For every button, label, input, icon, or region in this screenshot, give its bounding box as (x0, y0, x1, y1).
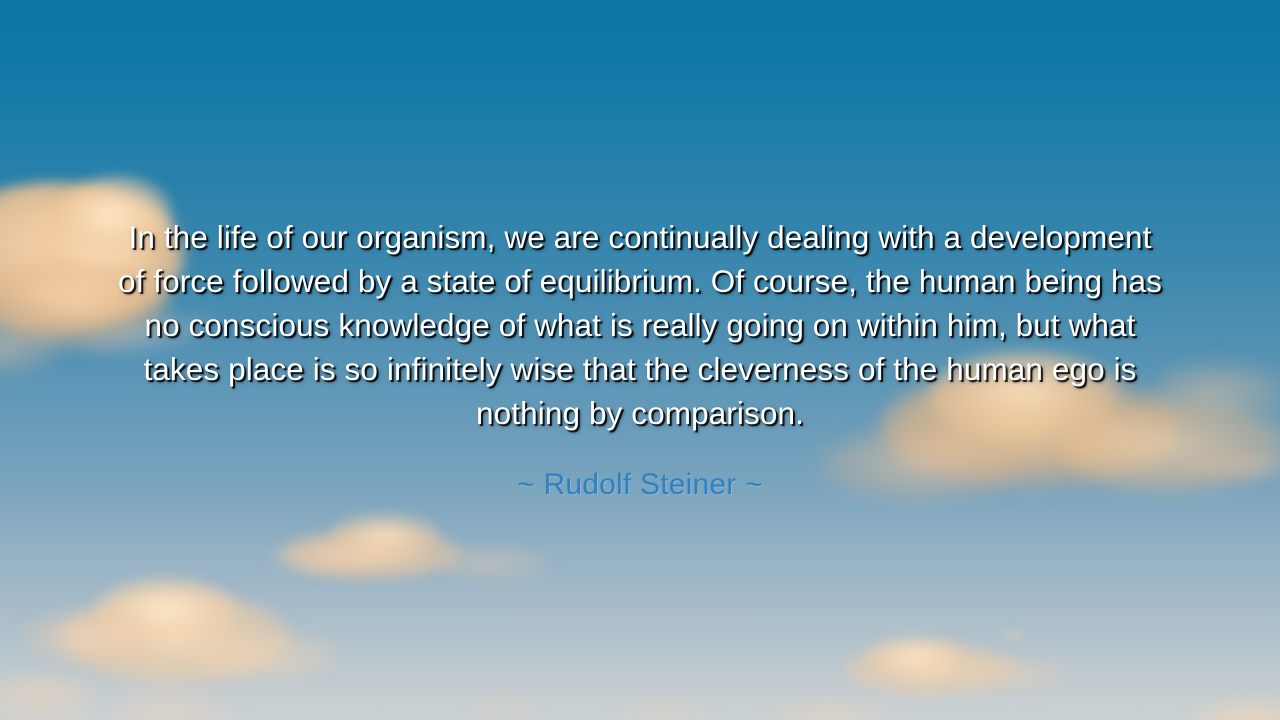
quote-attribution: ~ Rudolf Steiner ~ (117, 435, 1163, 505)
quote-content: In the life of our organism, we are cont… (0, 0, 1280, 720)
quote-slide: In the life of our organism, we are cont… (0, 0, 1280, 720)
quote-block: In the life of our organism, we are cont… (117, 215, 1163, 505)
quote-text: In the life of our organism, we are cont… (117, 215, 1163, 435)
